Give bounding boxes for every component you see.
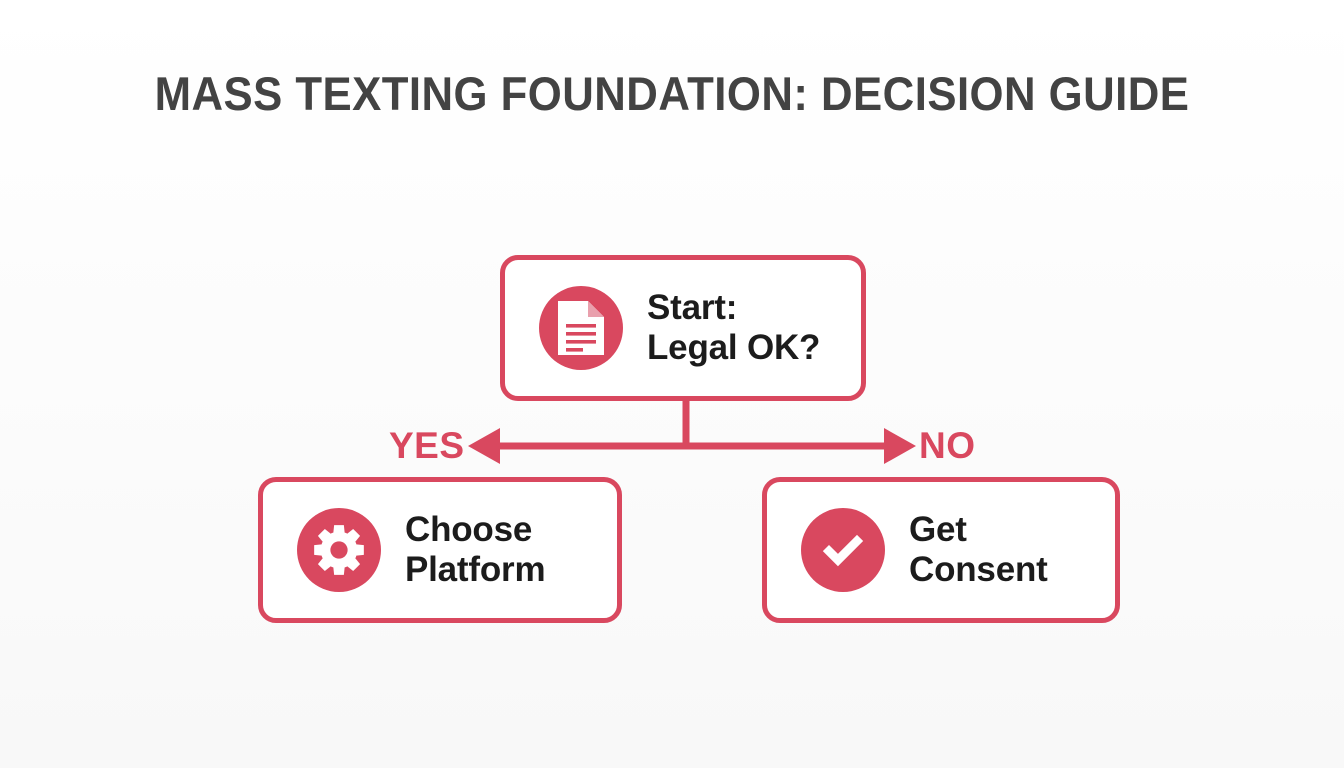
page-title: MASS TEXTING FOUNDATION: DECISION GUIDE [47,66,1297,121]
node-start-label: Start: Legal OK? [647,288,820,369]
node-choose-platform-label: Choose Platform [405,510,545,591]
check-circle-icon [801,508,885,592]
node-get-consent[interactable]: Get Consent [762,477,1120,623]
arrowhead-right [884,428,916,464]
document-icon [539,286,623,370]
gear-icon [297,508,381,592]
diagram-canvas: MASS TEXTING FOUNDATION: DECISION GUIDE … [0,0,1344,768]
branch-label-no: NO [919,425,976,467]
node-start[interactable]: Start: Legal OK? [500,255,866,401]
branch-label-yes: YES [389,425,465,467]
arrowhead-left [468,428,500,464]
node-choose-platform[interactable]: Choose Platform [258,477,622,623]
node-get-consent-label: Get Consent [909,510,1048,591]
